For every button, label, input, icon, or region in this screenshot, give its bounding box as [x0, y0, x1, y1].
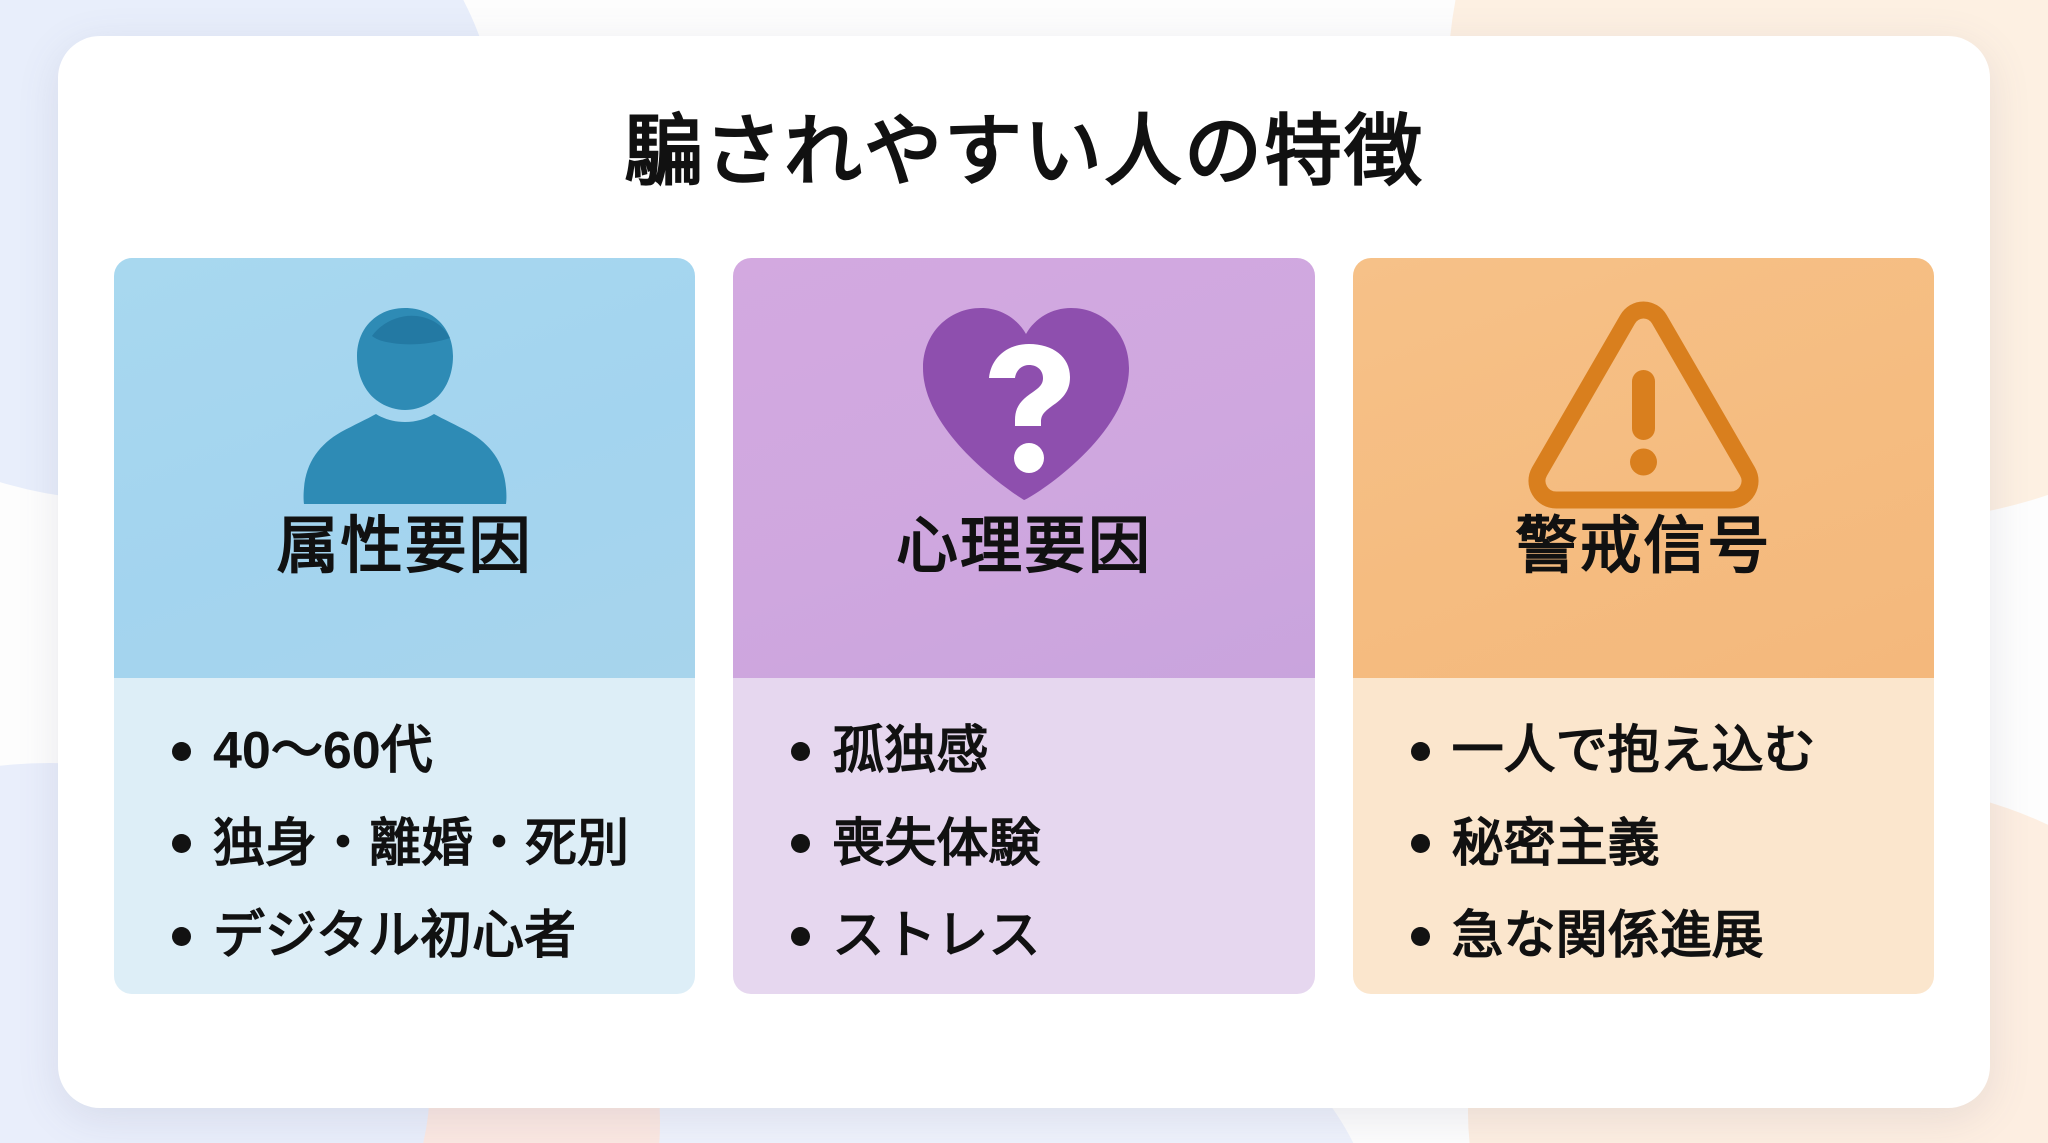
card-heading-psychological-factors: 心理要因 [896, 516, 1152, 578]
list-item-label: ストレス [832, 909, 1040, 964]
list-item-label: 独身・離婚・死別 [213, 817, 629, 872]
list-item: 喪失体験 [733, 817, 1314, 872]
card-warning-signals: 警戒信号 一人で抱え込む 秘密主義 急な関係進展 [1353, 258, 1934, 994]
card-body-attribute-factors: 40〜60代 独身・離婚・死別 デジタル初心者 [114, 678, 695, 994]
bullet-dot-icon [791, 927, 810, 946]
card-group: 属性要因 40〜60代 独身・離婚・死別 デジタル初心者 [114, 258, 1934, 994]
card-heading-attribute-factors: 属性要因 [277, 516, 533, 578]
warning-triangle-icon [1526, 292, 1761, 510]
list-item-label: 40〜60代 [213, 724, 433, 779]
card-header-psychological-factors: 心理要因 [733, 258, 1314, 678]
card-header-warning-signals: 警戒信号 [1353, 258, 1934, 678]
bullet-dot-icon [791, 834, 810, 853]
bullet-dot-icon [1411, 742, 1430, 761]
bullet-dot-icon [172, 834, 191, 853]
list-item: 一人で抱え込む [1353, 724, 1934, 779]
list-item-label: デジタル初心者 [213, 909, 576, 964]
list-item: ストレス [733, 909, 1314, 964]
list-item: 急な関係進展 [1353, 909, 1934, 964]
card-attribute-factors: 属性要因 40〜60代 独身・離婚・死別 デジタル初心者 [114, 258, 695, 994]
page-title: 騙されやすい人の特徴 [58, 112, 1990, 190]
bullet-dot-icon [791, 742, 810, 761]
list-item: 独身・離婚・死別 [114, 817, 695, 872]
bullet-dot-icon [172, 927, 191, 946]
list-item-label: 喪失体験 [832, 817, 1040, 872]
bullet-dot-icon [1411, 927, 1430, 946]
list-item-label: 一人で抱え込む [1452, 724, 1816, 779]
person-icon [300, 292, 510, 510]
list-item: デジタル初心者 [114, 909, 695, 964]
card-header-attribute-factors: 属性要因 [114, 258, 695, 678]
infographic-panel: 騙されやすい人の特徴 属性要因 4 [58, 36, 1990, 1108]
card-body-psychological-factors: 孤独感 喪失体験 ストレス [733, 678, 1314, 994]
heart-question-icon [909, 292, 1139, 510]
card-heading-warning-signals: 警戒信号 [1515, 516, 1771, 578]
bullet-dot-icon [1411, 834, 1430, 853]
bullet-dot-icon [172, 742, 191, 761]
list-item-label: 孤独感 [832, 724, 988, 779]
card-body-warning-signals: 一人で抱え込む 秘密主義 急な関係進展 [1353, 678, 1934, 994]
list-item: 40〜60代 [114, 724, 695, 779]
list-item: 孤独感 [733, 724, 1314, 779]
list-item-label: 急な関係進展 [1452, 909, 1764, 964]
list-item: 秘密主義 [1353, 817, 1934, 872]
card-psychological-factors: 心理要因 孤独感 喪失体験 ストレス [733, 258, 1314, 994]
list-item-label: 秘密主義 [1452, 817, 1660, 872]
